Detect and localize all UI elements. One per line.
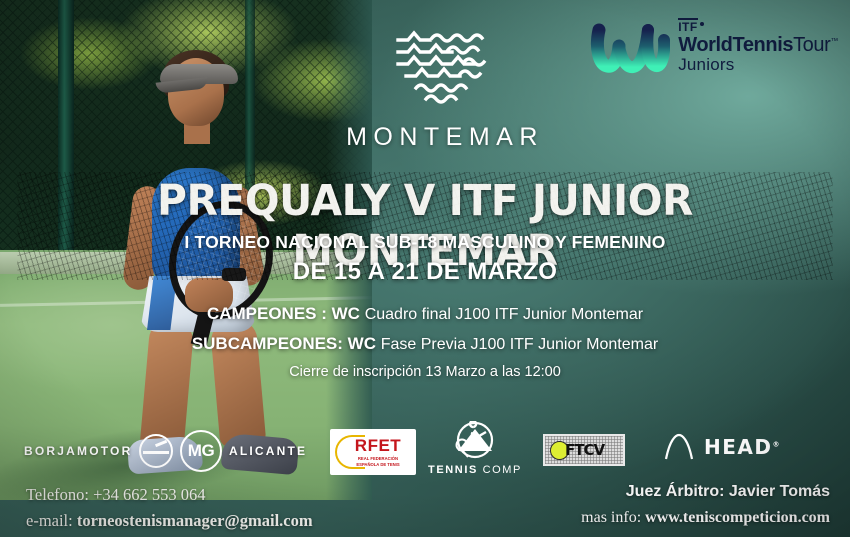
champions-wc: WC	[332, 304, 360, 323]
world-tennis-tour-line: WorldTennisTour™	[678, 35, 838, 55]
sponsor-rfet: RFET REAL FEDERACIÓN ESPAÑOLA DE TENIS	[330, 429, 416, 475]
head-arc-icon	[664, 433, 694, 461]
phone-label: Telefono:	[26, 485, 89, 504]
poster-subtitle: I TORNEO NACIONAL SUB-18 MASCULINO Y FEM…	[0, 232, 850, 253]
ftcv-tennis-ball-icon: FTCV	[543, 434, 625, 466]
info-label: mas info:	[581, 509, 641, 526]
mg-alicante-label: ALICANTE	[229, 444, 307, 458]
montemar-club-logo: MONTEMAR	[340, 24, 550, 152]
itf-abbrev: ITF	[678, 18, 698, 33]
ftcv-label: FTCV	[565, 441, 604, 459]
phone-value: +34 662 553 064	[93, 485, 205, 504]
sponsor-head: HEAD®	[664, 433, 781, 461]
head-label: HEAD®	[704, 435, 781, 459]
itf-registered-dot-icon	[700, 22, 704, 26]
runnersup-prize-line: SUBCAMPEONES: WC Fase Previa J100 ITF Ju…	[0, 334, 850, 354]
champions-prize-line: CAMPEONES : WC Cuadro final J100 ITF Jun…	[0, 304, 850, 324]
contact-email[interactable]: e-mail: torneostenismanager@gmail.com	[26, 511, 313, 531]
rfet-arc-icon	[335, 435, 365, 469]
itf-abbrev-row: ITF	[678, 18, 838, 33]
sponsor-ftcv: FTCV	[543, 434, 625, 466]
tenniscomp-label: TENNIS COMP	[428, 464, 522, 476]
sponsor-borjamotor: BORJAMOTOR	[24, 434, 173, 468]
runnersup-detail: Fase Previa J100 ITF Junior Montemar	[381, 336, 658, 353]
itf-tour: Tour	[793, 34, 830, 56]
tennis-player-badge-icon	[447, 421, 503, 463]
itf-w-brushstroke-icon	[590, 14, 670, 76]
website-info[interactable]: mas info: www.teniscompeticion.com	[581, 509, 830, 527]
champions-detail: Cuadro final J100 ITF Junior Montemar	[365, 306, 643, 323]
contact-phone: Telefono: +34 662 553 064	[26, 485, 206, 505]
tenniscomp-name-light: COMP	[483, 464, 522, 476]
email-value[interactable]: torneostenismanager@gmail.com	[77, 511, 313, 530]
mg-initials: MG	[188, 441, 214, 461]
poster-footer: Telefono: +34 662 553 064 e-mail: torneo…	[0, 479, 850, 537]
runnersup-label: SUBCAMPEONES:	[192, 334, 343, 353]
itf-world: World	[678, 34, 732, 56]
sponsor-mg-alicante: MG ALICANTE	[180, 430, 307, 472]
montemar-wordmark: MONTEMAR	[340, 123, 550, 152]
head-trademark: ®	[772, 440, 781, 448]
itf-juniors: Juniors	[678, 56, 838, 73]
registration-deadline: Cierre de inscripción 13 Marzo a las 12:…	[0, 364, 850, 380]
mountain-waves-icon	[392, 24, 498, 106]
website-url[interactable]: www.teniscompeticion.com	[645, 509, 830, 526]
mg-badge-icon: MG	[180, 430, 222, 472]
email-label: e-mail:	[26, 511, 73, 530]
itf-trademark: ™	[830, 36, 838, 45]
tenniscomp-name-bold: TENNIS	[428, 464, 478, 476]
referee-info: Juez Árbitro: Javier Tomás	[626, 483, 830, 501]
sponsor-row: BORJAMOTOR MG ALICANTE RFET REAL FEDERAC…	[0, 416, 850, 478]
poster-dates: DE 15 A 21 DE MARZO	[0, 258, 850, 286]
borjamotor-label: BORJAMOTOR	[24, 444, 132, 458]
itf-world-tennis-tour-logo: ITF WorldTennisTour™ Juniors	[590, 14, 838, 76]
itf-wordmark: ITF WorldTennisTour™ Juniors	[678, 18, 838, 73]
opel-logo-icon	[139, 434, 173, 468]
itf-tennis: Tennis	[733, 34, 794, 56]
runnersup-wc: WC	[348, 334, 376, 353]
champions-label: CAMPEONES :	[207, 304, 327, 323]
rfet-logo-icon: RFET REAL FEDERACIÓN ESPAÑOLA DE TENIS	[330, 429, 416, 475]
sponsor-tenniscomp: TENNIS COMP	[428, 421, 522, 476]
head-name: HEAD	[704, 435, 772, 459]
tournament-poster: MONTEMAR ITF WorldTennisTour™	[0, 0, 850, 537]
